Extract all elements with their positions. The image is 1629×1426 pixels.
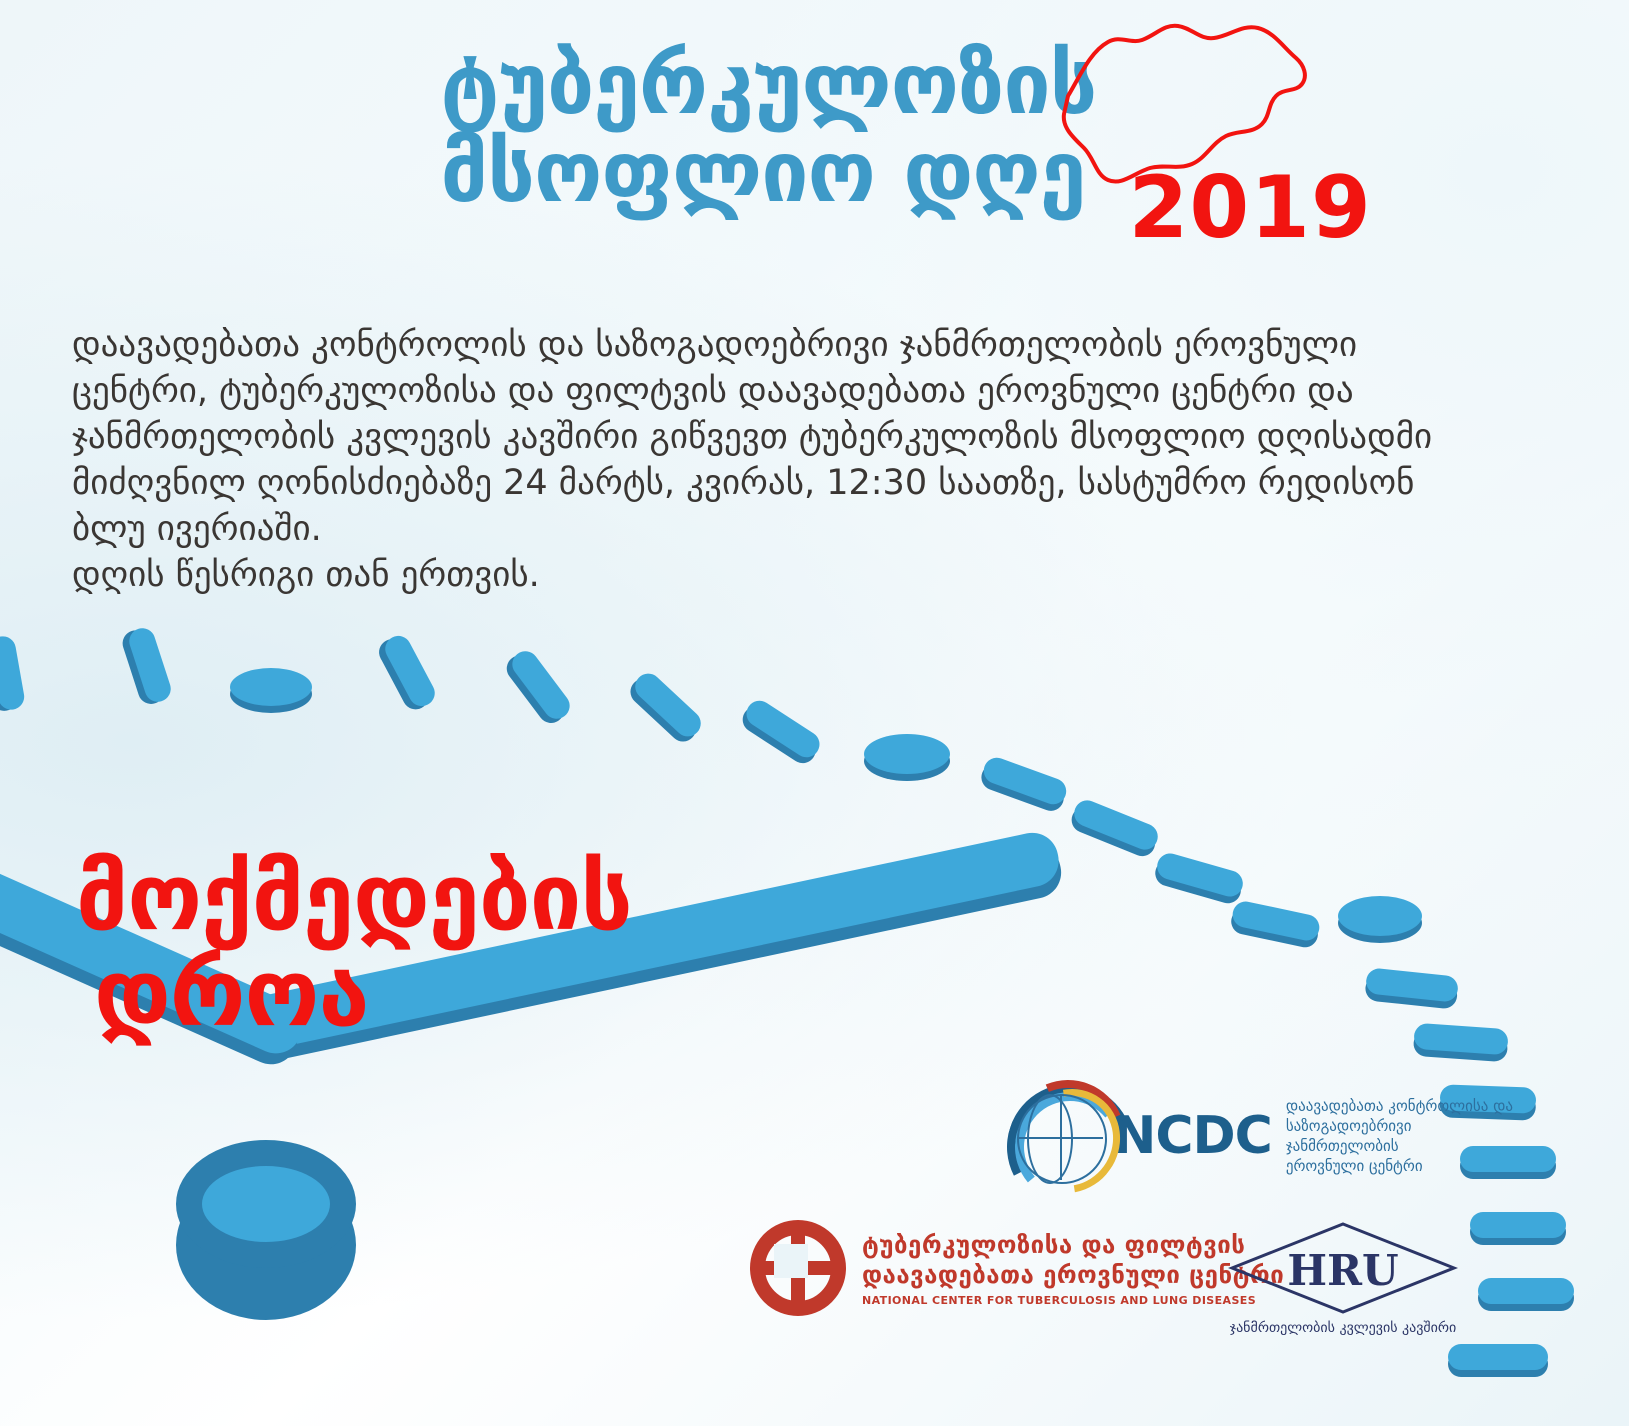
body-line: მიძღვნილ ღონისძიებაზე 24 მარტს, კვირას, … [72, 460, 1512, 506]
ncdc-tagline-line: საზოგადოებრივი ჯანმრთელობის [1286, 1116, 1520, 1156]
clock-tick [507, 646, 575, 724]
clock-tick [1230, 899, 1321, 943]
hru-tagline: ჯანმრთელობის კვლევის კავშირი [1218, 1320, 1468, 1336]
clock-tick-dot [864, 734, 950, 774]
clock-tick [1365, 967, 1459, 1002]
slogan-line2: დროა [76, 946, 632, 1042]
body-line: დღის წესრიგი თან ერთვის. [72, 552, 1512, 598]
clock-tick [1070, 796, 1161, 853]
ncdc-logo: NCDC დაავადებათა კონტროლისა და საზოგადოე… [1005, 1080, 1520, 1192]
clock-hub [176, 1140, 356, 1268]
ncdc-globe-icon [1005, 1080, 1113, 1192]
tb-center-logo: ტუბერკულოზისა და ფილტვის დაავადებათა ერო… [750, 1220, 1284, 1316]
clock-tick [381, 631, 440, 710]
logo-row: NCDC დაავადებათა კონტროლისა და საზოგადოე… [740, 1070, 1520, 1370]
globe-meridian-icon [1027, 1094, 1073, 1184]
ncdc-tagline-line: ეროვნული ცენტრი [1286, 1156, 1520, 1176]
poster-slogan: მოქმედების დროა [76, 850, 632, 1042]
clock-tick-dot [1338, 896, 1422, 936]
clock-tick [980, 754, 1070, 808]
poster-body-text: დაავადებათა კონტროლის და საზოგადოებრივი … [72, 322, 1512, 598]
clock-tick [126, 625, 174, 705]
tb-center-square [774, 1244, 808, 1278]
hru-diamond-icon: HRU [1228, 1220, 1458, 1316]
hru-logo: HRU ჯანმრთელობის კვლევის კავშირი [1218, 1220, 1468, 1336]
poster-header: END TB ტუბერკულოზის მსოფლიო დღე 2019 [0, 40, 1629, 216]
clock-hub-shadow [176, 1170, 356, 1320]
ncdc-wordmark: NCDC [1113, 1106, 1272, 1166]
clock-tick-dot [230, 668, 312, 706]
body-line: ჯანმრთელობის კვლევის კავშირი გიწვევთ ტუბ… [72, 414, 1512, 460]
poster-canvas: END TB ტუბერკულოზის მსოფლიო დღე 2019 დაა… [0, 0, 1629, 1426]
clock-tick [1154, 850, 1246, 899]
body-line: ბლუ ივერიაში. [72, 506, 1512, 552]
clock-tick [630, 668, 706, 742]
slogan-line1: მოქმედების [76, 850, 632, 946]
ncdc-tagline: დაავადებათა კონტროლისა და საზოგადოებრივი… [1286, 1096, 1520, 1176]
clock-tick [742, 696, 825, 762]
hru-wordmark: HRU [1228, 1246, 1458, 1295]
poster-year: 2019 [1129, 158, 1372, 258]
clock-tick [1413, 1023, 1509, 1055]
body-line: დაავადებათა კონტროლის და საზოგადოებრივი … [72, 322, 1512, 368]
clock-tick [0, 634, 26, 711]
ncdc-tagline-line: დაავადებათა კონტროლისა და [1286, 1096, 1520, 1116]
tb-center-icon [750, 1220, 846, 1316]
body-line: ცენტრი, ტუბერკულოზისა და ფილტვის დაავადე… [72, 368, 1512, 414]
